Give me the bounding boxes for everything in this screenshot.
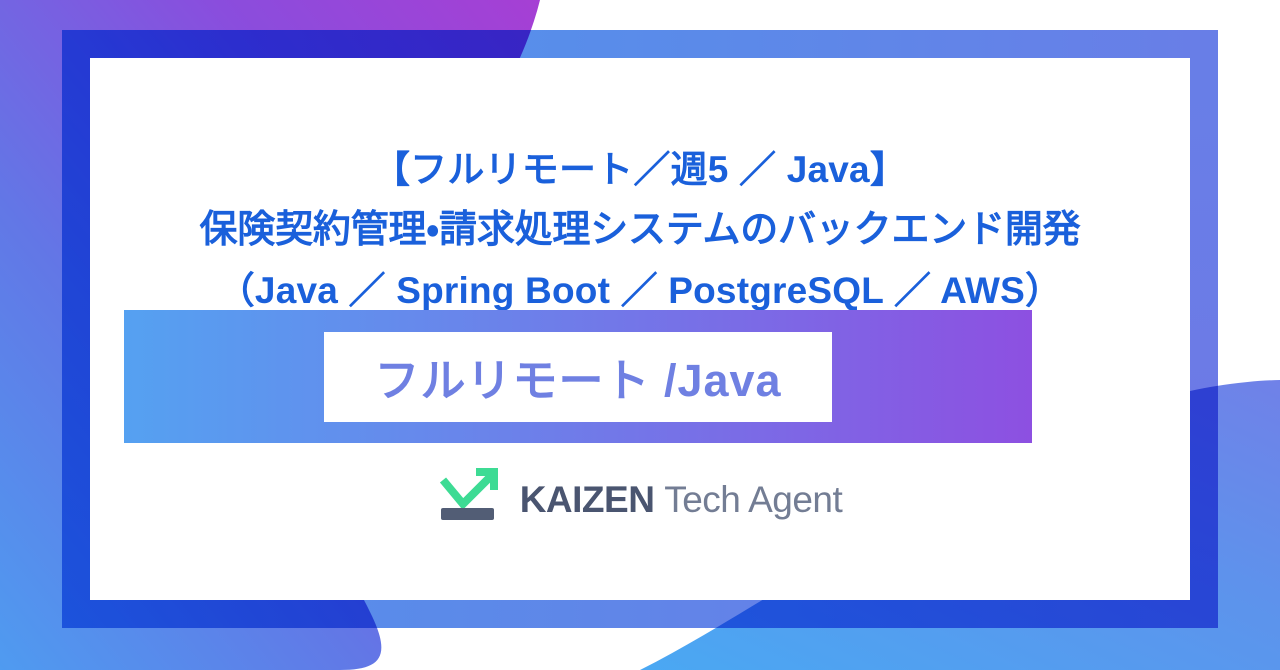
brand-name-secondary: Tech Agent — [664, 479, 842, 520]
brand-name-primary: KAIZEN — [520, 479, 655, 520]
status-badge: フルリモート /Java — [374, 344, 781, 409]
job-banner: 【フルリモート／週5 ／ Java】 保険契約管理・請求処理システムのバックエン… — [0, 0, 1280, 670]
brand-wordmark: KAIZEN Tech Agent — [520, 481, 843, 522]
headline-line-1: 【フルリモート／週5 ／ Java】 — [110, 140, 1170, 200]
headline-line-2: 保険契約管理・請求処理システムのバックエンド開発 — [110, 200, 1170, 262]
growth-arrow-icon — [438, 462, 504, 522]
badge-chip: フルリモート /Java — [324, 332, 832, 422]
brand-logo: KAIZEN Tech Agent — [0, 462, 1280, 522]
highlight-badge-bar: フルリモート /Java — [124, 310, 1032, 443]
logo-base-bar — [441, 508, 494, 520]
page-title: 【フルリモート／週5 ／ Java】 保険契約管理・請求処理システムのバックエン… — [110, 140, 1170, 321]
